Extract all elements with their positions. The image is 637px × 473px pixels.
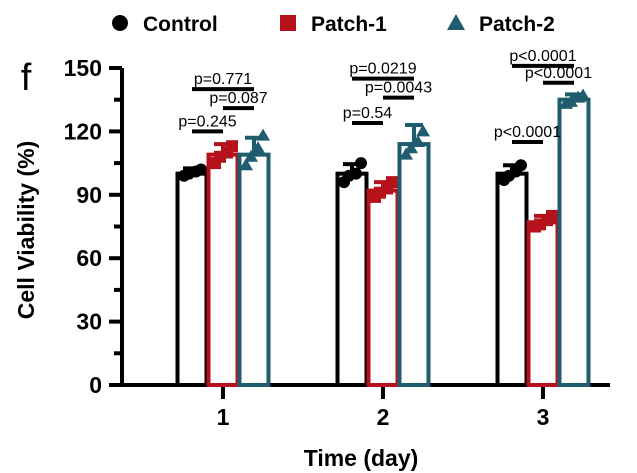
bar-rect	[400, 144, 429, 385]
significance-annotation: p=0.245	[178, 113, 236, 131]
p-value-label: p<0.0001	[494, 124, 561, 141]
cell-viability-bar-chart: fControlPatch-1Patch-20306090120150Cell …	[0, 0, 637, 473]
bar-rect	[178, 174, 207, 385]
x-axis-title: Time (day)	[304, 445, 419, 471]
bar-rect	[209, 155, 238, 385]
bar-patch-2-day3	[559, 88, 590, 385]
bar-patch-1-day2	[369, 176, 399, 385]
data-point-circle	[515, 159, 527, 171]
significance-annotation: p<0.0001	[494, 124, 561, 142]
x-axis-tick-label: 2	[377, 404, 390, 430]
legend-label: Control	[143, 13, 218, 36]
p-value-label: p=0.245	[178, 113, 236, 130]
panel-label: f	[21, 57, 32, 99]
bar-rect	[560, 100, 589, 385]
significance-annotation: p=0.087	[209, 90, 267, 108]
legend-label: Patch-1	[311, 13, 387, 36]
data-point-triangle	[256, 129, 270, 141]
bar-control-day2	[338, 157, 368, 385]
triangle-marker-icon	[447, 14, 465, 30]
x-axis-tick-label: 1	[217, 404, 230, 430]
legend-item-patch-2: Patch-2	[447, 13, 555, 36]
bar-control-day3	[498, 159, 528, 385]
bar-patch-1-day1	[209, 140, 239, 385]
x-axis-tick-label: 3	[537, 404, 550, 430]
bar-control-day1	[178, 163, 208, 385]
bar-rect	[369, 191, 398, 385]
data-point-circle	[355, 157, 367, 169]
bar-rect	[529, 222, 558, 385]
data-point-square	[546, 210, 558, 222]
y-axis-tick-label: 120	[64, 118, 102, 144]
bar-patch-2-day2	[399, 124, 430, 385]
y-axis-title: Cell Viability (%)	[13, 141, 39, 320]
p-value-label: p=0.0043	[365, 80, 432, 97]
significance-annotation: p=0.0043	[365, 80, 432, 98]
significance-annotation: p=0.54	[343, 105, 392, 123]
figure-panel: fControlPatch-1Patch-20306090120150Cell …	[0, 0, 637, 473]
p-value-label: p=0.087	[209, 90, 267, 107]
bar-rect	[240, 155, 269, 385]
data-point-square	[386, 176, 398, 188]
p-value-label: p=0.771	[194, 71, 252, 88]
y-axis-tick-label: 90	[76, 182, 102, 208]
square-marker-icon	[280, 15, 296, 31]
significance-annotation: p=0.771	[192, 71, 254, 89]
bar-rect	[338, 174, 367, 385]
data-point-square	[226, 140, 238, 152]
legend-item-patch-1: Patch-1	[280, 13, 387, 36]
p-value-label: p<0.0001	[509, 48, 576, 65]
data-point-circle	[350, 168, 362, 180]
y-axis-tick-label: 0	[89, 372, 102, 398]
bar-patch-2-day1	[239, 129, 270, 385]
data-point-circle	[195, 163, 207, 175]
y-axis-tick-label: 150	[64, 55, 102, 81]
significance-annotation: p=0.0219	[349, 61, 416, 79]
y-axis-tick-label: 60	[76, 245, 102, 271]
legend-item-control: Control	[112, 13, 218, 36]
legend-label: Patch-2	[479, 13, 555, 36]
p-value-label: p=0.54	[343, 105, 392, 122]
bar-patch-1-day3	[529, 210, 559, 385]
bar-rect	[498, 174, 527, 385]
significance-annotation: p<0.0001	[509, 48, 576, 66]
circle-marker-icon	[112, 15, 128, 31]
y-axis-tick-label: 30	[76, 309, 102, 335]
p-value-label: p=0.0219	[349, 61, 416, 78]
